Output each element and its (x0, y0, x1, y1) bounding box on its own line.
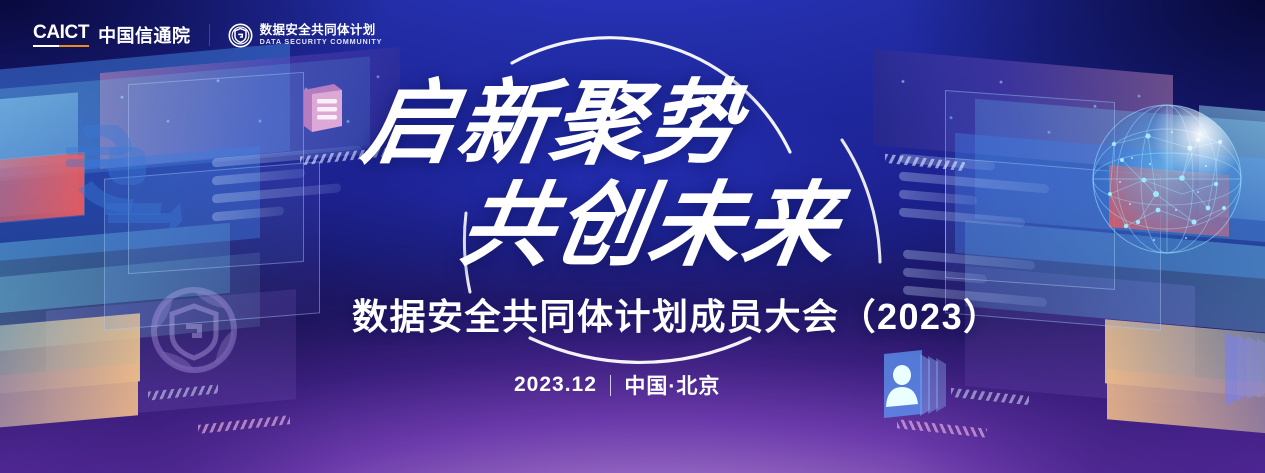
shield-circle-icon (228, 23, 253, 48)
user-avatar-icon (880, 348, 952, 422)
community-chinese-name: 数据安全共同体计划 (260, 24, 383, 37)
vr-headset-icon (48, 125, 198, 230)
caict-wordmark: CAICT (33, 23, 89, 48)
shield-aperture-watermark (142, 278, 246, 382)
caict-underline (33, 45, 89, 48)
header-logo-bar: CAICT 中国信通院 数据安全共同体计划 DATA SECURITY COMM… (33, 22, 382, 48)
conference-banner: CAICT 中国信通院 数据安全共同体计划 DATA SECURITY COMM… (0, 0, 1265, 473)
card-stack-icon (1215, 330, 1265, 408)
community-logo-text: 数据安全共同体计划 DATA SECURITY COMMUNITY (260, 24, 383, 45)
network-globe-icon (1086, 98, 1248, 260)
data-security-community-logo[interactable]: 数据安全共同体计划 DATA SECURITY COMMUNITY (228, 23, 383, 48)
logo-divider (209, 24, 210, 46)
caict-logo[interactable]: CAICT 中国信通院 (33, 22, 191, 48)
caict-wordmark-text: CAICT (33, 23, 89, 42)
community-english-name: DATA SECURITY COMMUNITY (260, 38, 383, 45)
caict-chinese-name: 中国信通院 (98, 22, 191, 48)
document-card-icon (300, 82, 346, 134)
